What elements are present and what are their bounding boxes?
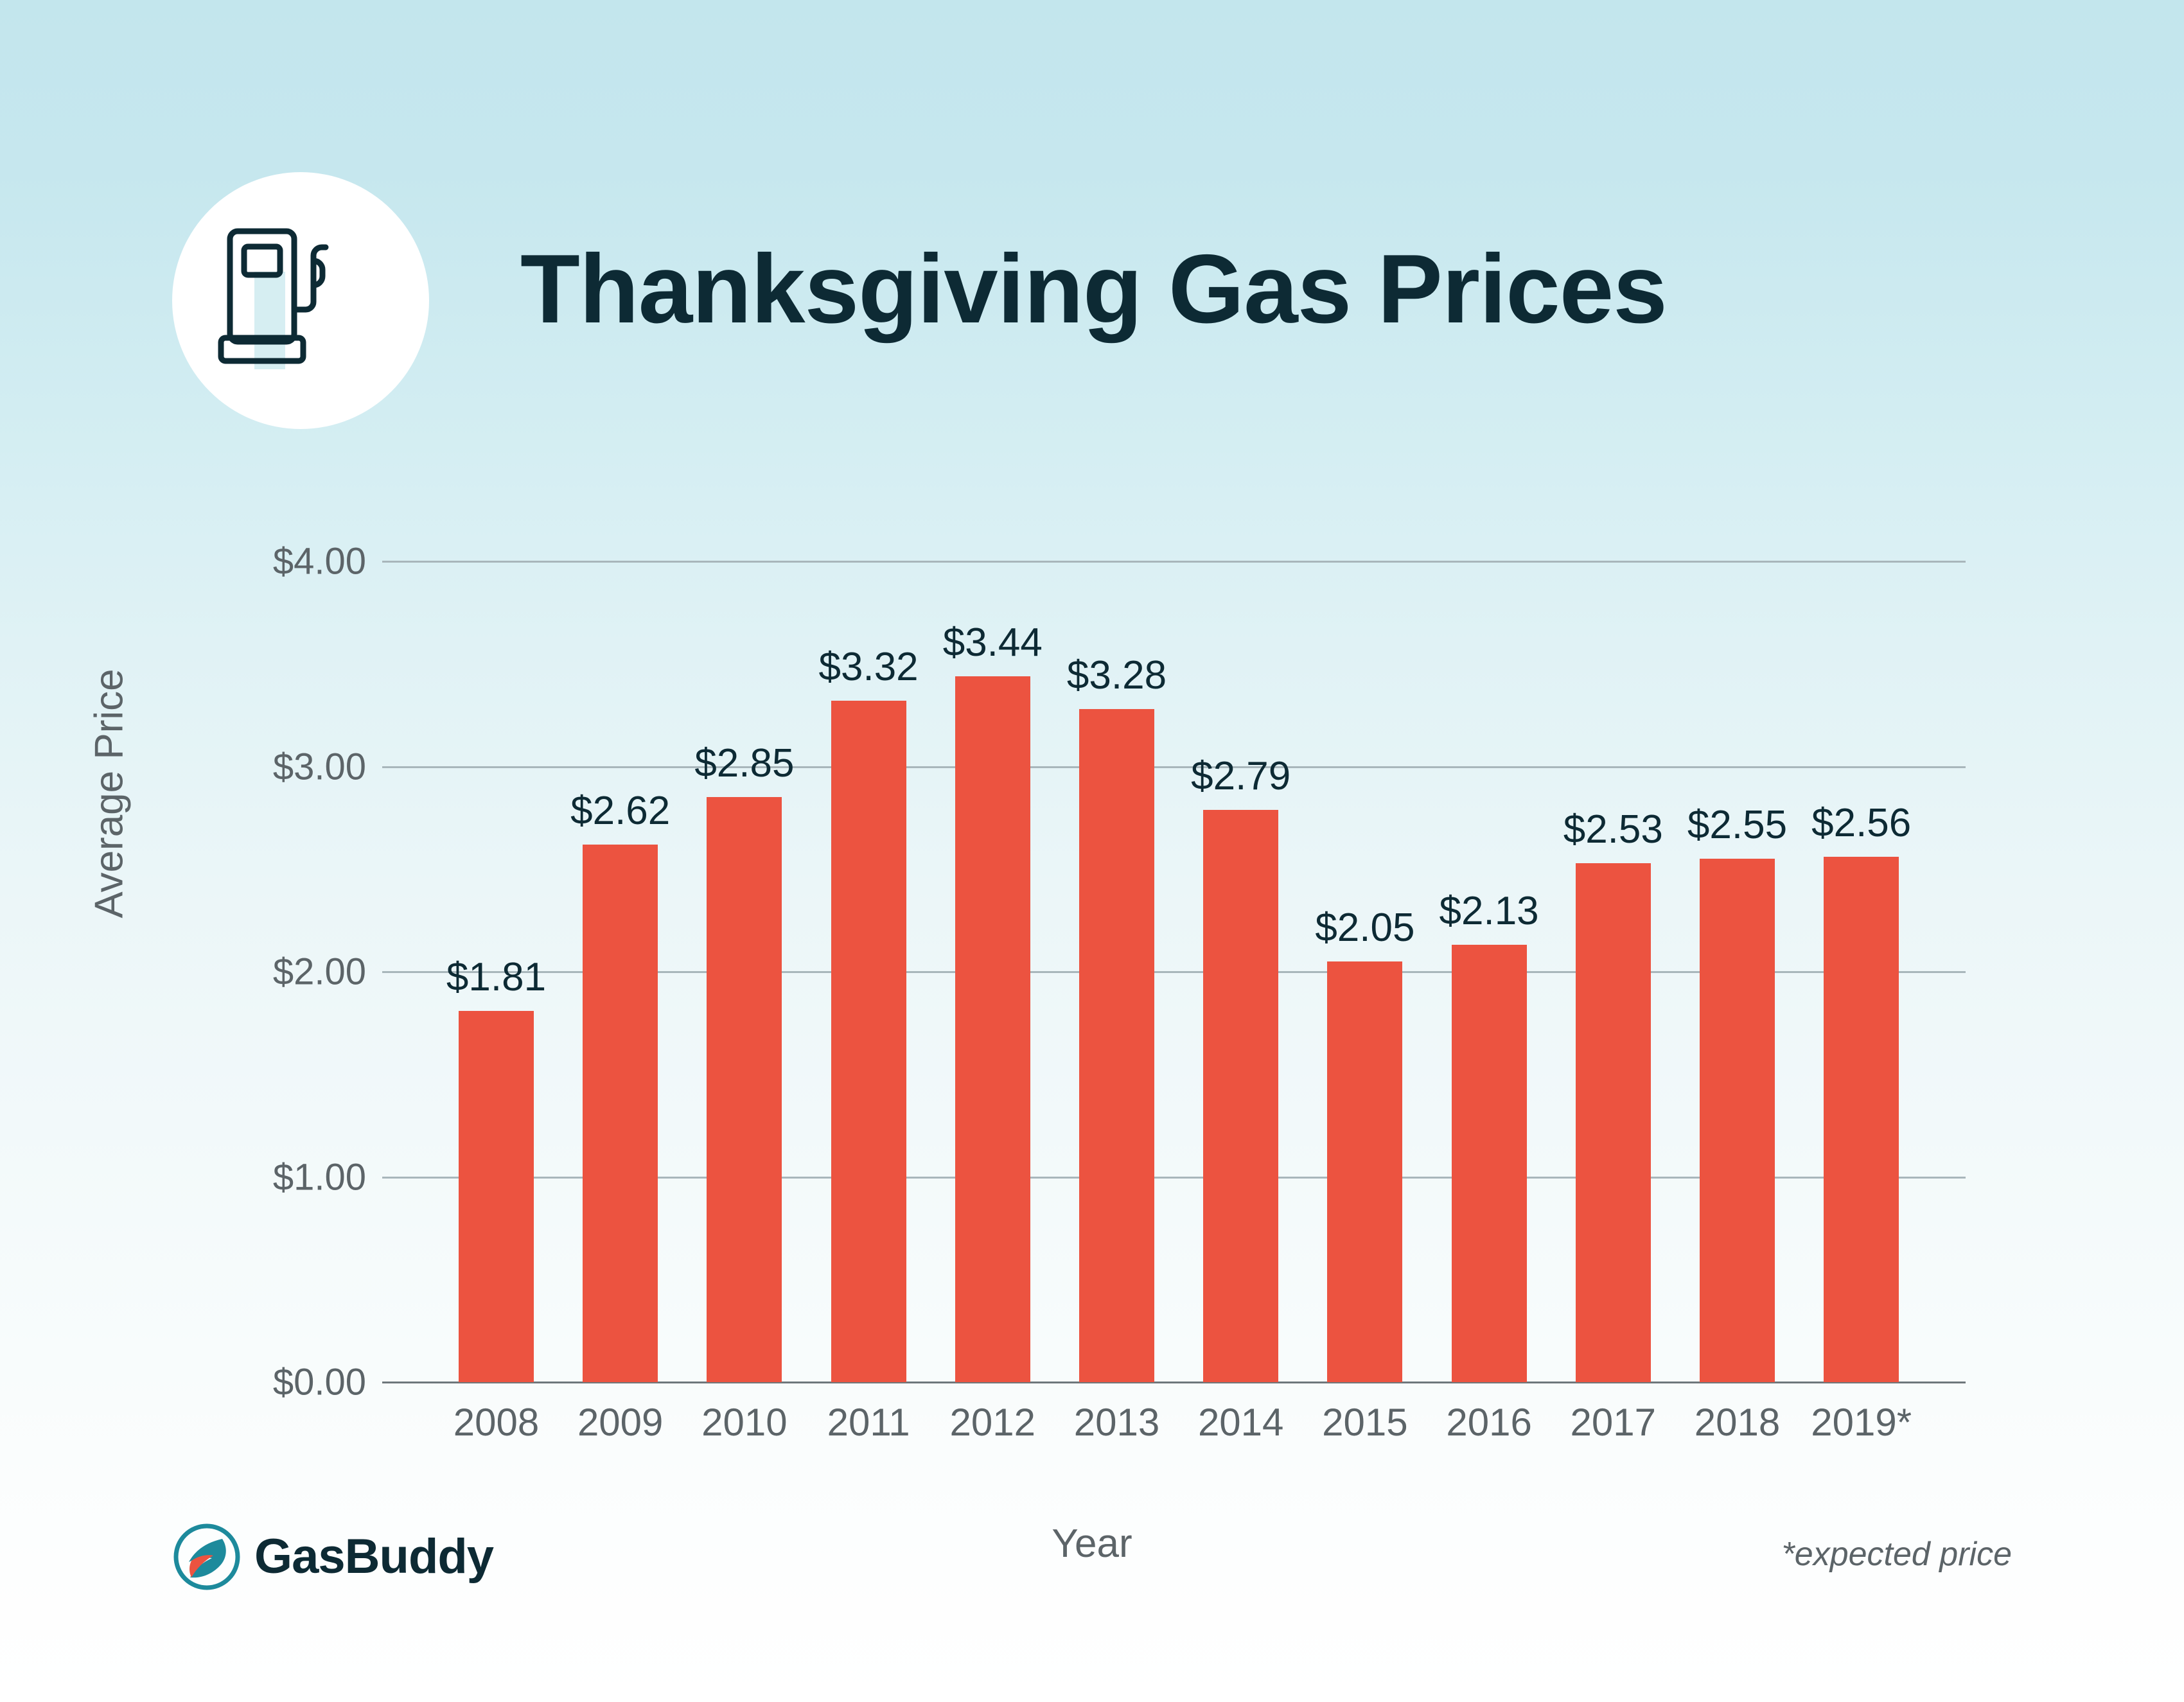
y-axis-tick-label: $1.00 xyxy=(186,1155,366,1198)
y-axis-tick-label: $0.00 xyxy=(186,1361,366,1404)
bar-value-label: $2.13 xyxy=(1405,888,1572,934)
bar[interactable] xyxy=(1327,961,1402,1382)
bar-chart: Average Price $4.00$3.00$2.00$1.00$0.00 … xyxy=(0,0,2184,1702)
bar[interactable] xyxy=(1824,857,1899,1382)
bar-value-label: $3.28 xyxy=(1034,653,1201,698)
bar[interactable] xyxy=(1452,945,1527,1382)
bar[interactable] xyxy=(1079,709,1154,1382)
bar-value-label: $2.85 xyxy=(661,741,828,786)
y-axis-tick-label: $4.00 xyxy=(186,540,366,583)
bar[interactable] xyxy=(459,1011,534,1382)
bar[interactable] xyxy=(1576,863,1651,1382)
gasbuddy-wordmark: GasBuddy xyxy=(254,1525,493,1589)
bar-value-label: $2.62 xyxy=(537,788,704,834)
gasbuddy-logo-icon xyxy=(172,1522,242,1592)
bar[interactable] xyxy=(1203,810,1278,1382)
bar[interactable] xyxy=(707,797,782,1382)
gridline xyxy=(382,561,1966,563)
x-axis-tick-label: 2019* xyxy=(1778,1400,1945,1444)
y-axis-tick-label: $2.00 xyxy=(186,951,366,994)
footnote: *expected price xyxy=(1782,1535,2012,1574)
y-axis-tick-label: $3.00 xyxy=(186,745,366,788)
bar-value-label: $1.81 xyxy=(413,954,580,1000)
bar-value-label: $2.56 xyxy=(1778,800,1945,846)
bar[interactable] xyxy=(583,845,658,1382)
bar[interactable] xyxy=(1700,859,1775,1382)
x-axis-title: Year xyxy=(899,1521,1285,1566)
bar[interactable] xyxy=(831,701,906,1382)
gasbuddy-logo: GasBuddy xyxy=(172,1520,506,1597)
y-axis-title: Average Price xyxy=(87,601,132,987)
bar-value-label: $2.79 xyxy=(1158,753,1325,799)
bar[interactable] xyxy=(955,676,1030,1382)
